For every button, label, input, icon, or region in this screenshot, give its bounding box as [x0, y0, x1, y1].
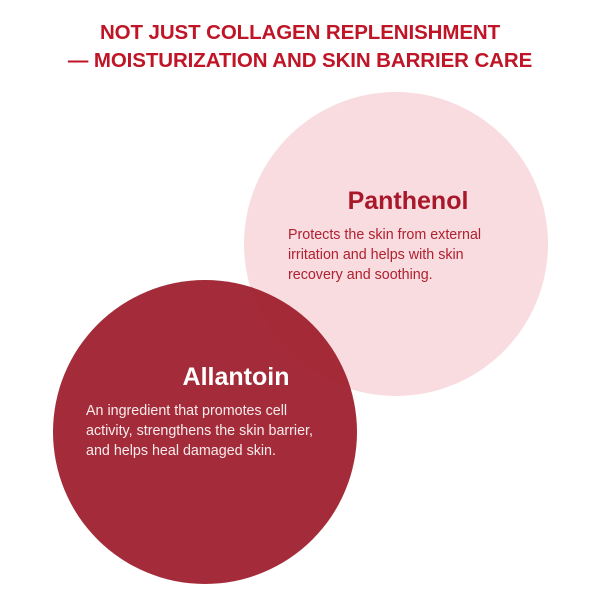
panthenol-text-group: Panthenol Protects the skin from externa…: [282, 188, 532, 285]
venn-diagram: [0, 0, 600, 600]
allantoin-text-group: Allantoin An ingredient that promotes ce…: [82, 364, 344, 461]
panthenol-description: Protects the skin from external irritati…: [288, 225, 532, 286]
allantoin-description: An ingredient that promotes cell activit…: [86, 401, 344, 462]
panthenol-heading: Panthenol: [284, 188, 532, 216]
allantoin-heading: Allantoin: [128, 364, 344, 392]
infographic-canvas: NOT JUST COLLAGEN REPLENISHMENT — MOISTU…: [0, 0, 600, 600]
